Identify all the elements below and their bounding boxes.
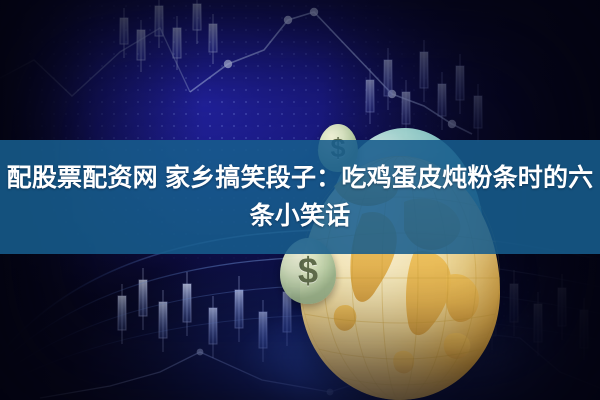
title-banner: 配股票配资网 家乡搞笑段子：吃鸡蛋皮炖粉条时的六条小笑话 xyxy=(0,140,600,254)
page-title: 配股票配资网 家乡搞笑段子：吃鸡蛋皮炖粉条时的六条小笑话 xyxy=(0,159,600,235)
thumbnail-canvas: $ $ 配股票配资网 家乡搞笑段子：吃鸡蛋皮炖粉条时的六条小笑话 xyxy=(0,0,600,400)
